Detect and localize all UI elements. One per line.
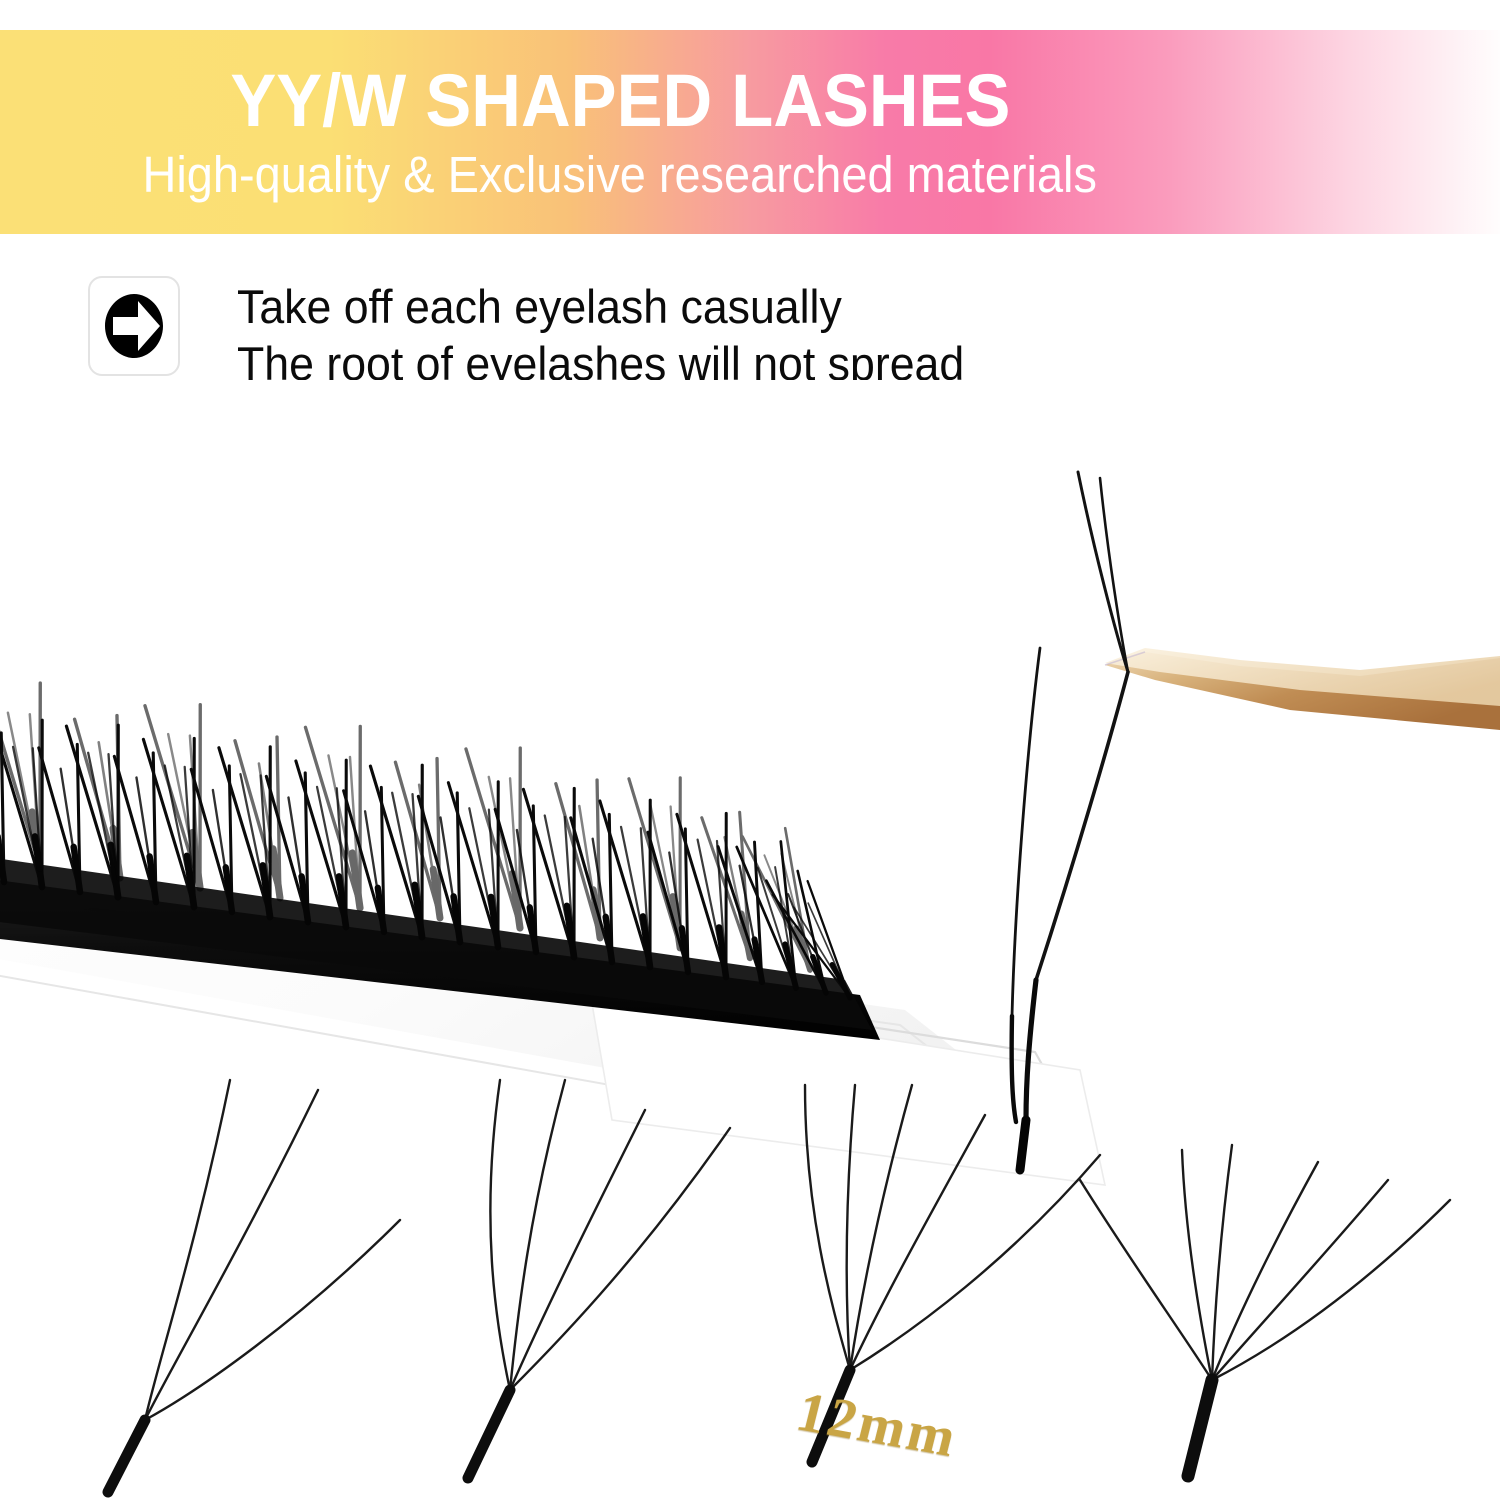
arrow-right-circle-icon — [103, 292, 165, 360]
banner-text-block: YY/W SHAPED LASHES High-quality & Exclus… — [0, 30, 1240, 234]
instruction-line-1: Take off each eyelash casually — [237, 278, 964, 335]
instruction-text-block: Take off each eyelash casually The root … — [237, 276, 1002, 392]
page-title: YY/W SHAPED LASHES — [230, 60, 1010, 142]
promo-banner: YY/W SHAPED LASHES High-quality & Exclus… — [0, 30, 1500, 234]
lash-tray-photo — [0, 380, 1500, 1500]
product-photo: 12mm — [0, 380, 1500, 1500]
instruction-icon-box — [88, 276, 180, 376]
gold-tweezer — [1105, 648, 1500, 730]
instruction-callout: Take off each eyelash casually The root … — [88, 276, 1002, 392]
page-subtitle: High-quality & Exclusive researched mate… — [143, 146, 1097, 204]
lash-fan-6w — [1080, 1145, 1450, 1476]
lash-fan-4w — [468, 1080, 730, 1478]
lash-fan-3w — [108, 1080, 400, 1492]
